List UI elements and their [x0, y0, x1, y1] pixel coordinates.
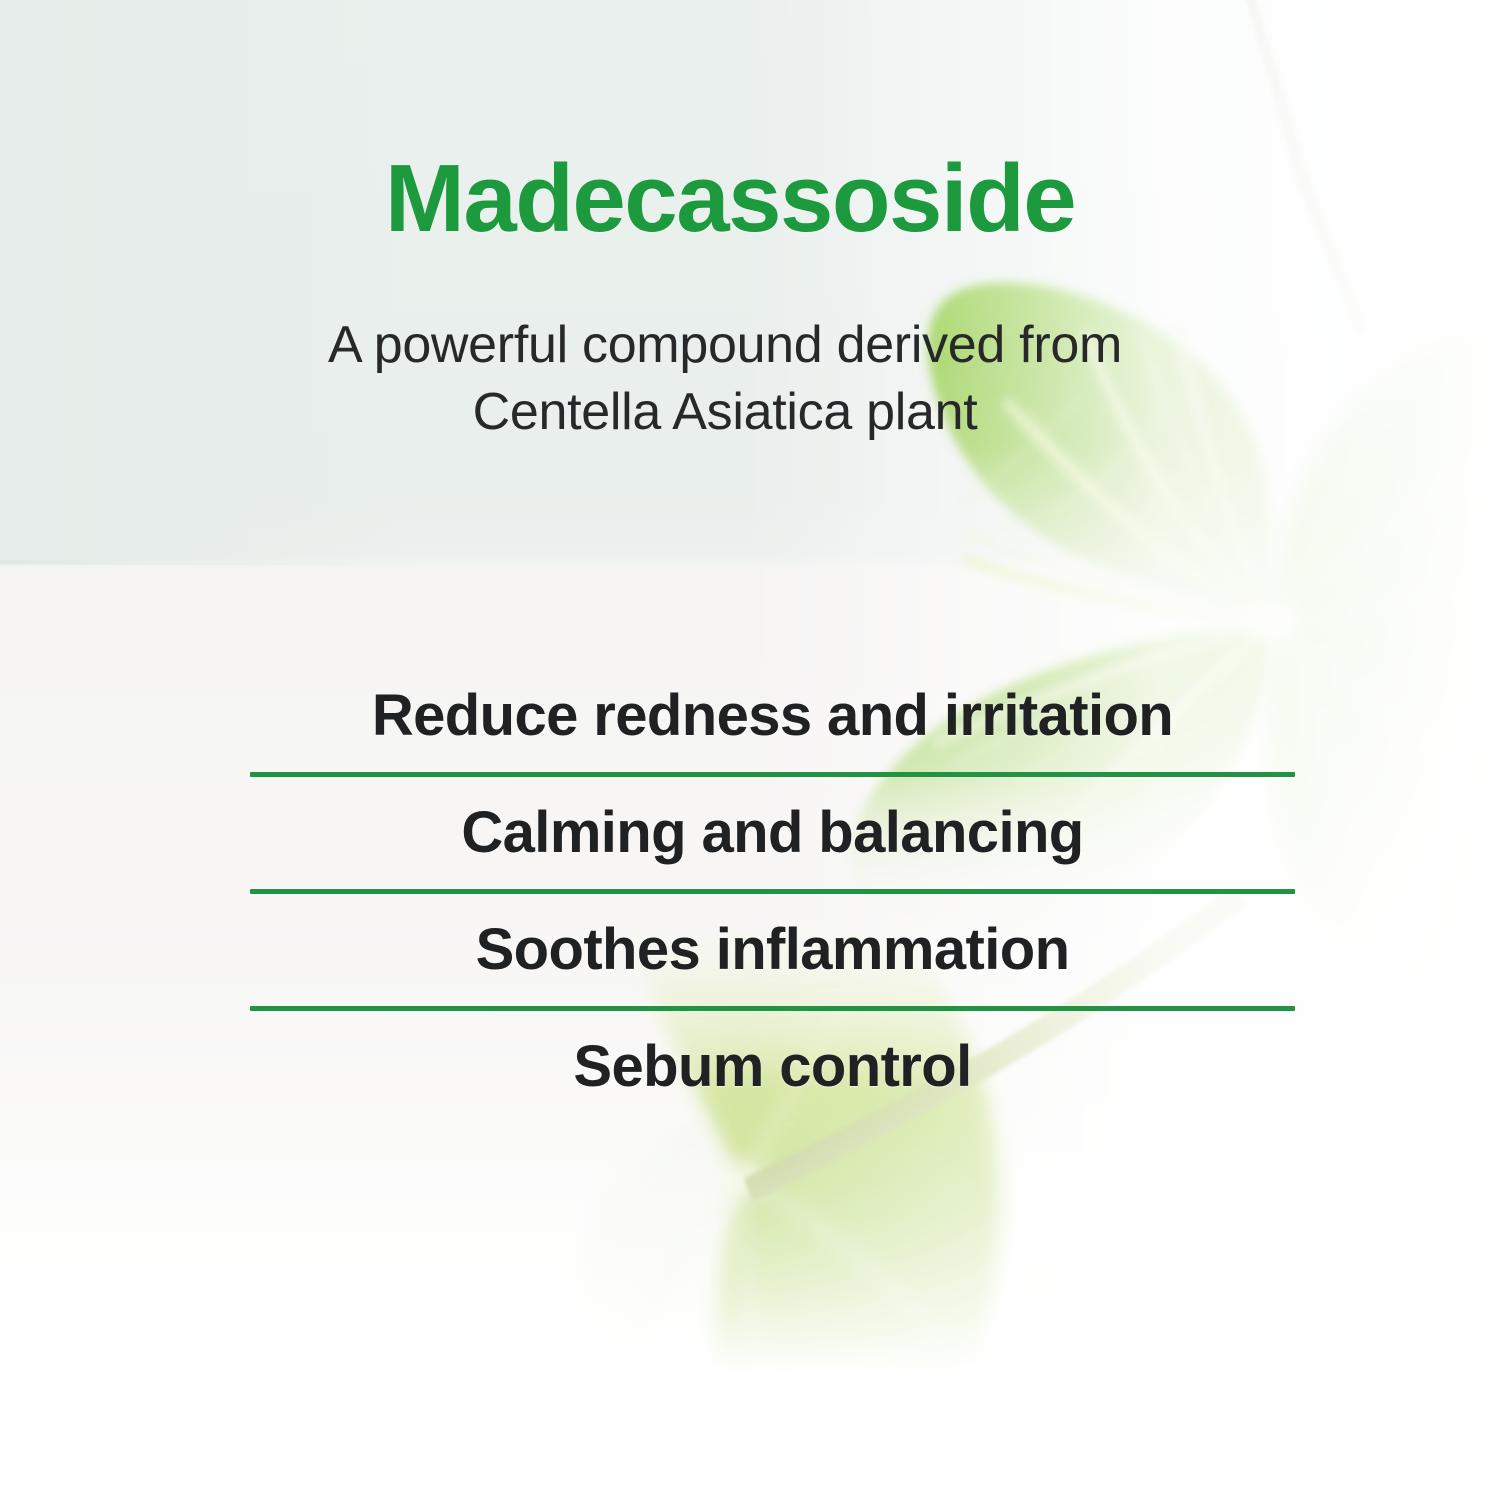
subtitle-line-1: A powerful compound derived from: [0, 312, 1450, 379]
benefit-label: Reduce redness and irritation: [372, 687, 1173, 745]
page-subtitle: A powerful compound derived from Centell…: [0, 312, 1450, 445]
benefit-label: Calming and balancing: [461, 804, 1083, 862]
ingredient-infographic: Madecassoside A powerful compound derive…: [0, 0, 1500, 1500]
benefits-list: Reduce redness and irritation Calming an…: [250, 660, 1295, 1123]
list-item: Calming and balancing: [250, 777, 1295, 889]
subtitle-line-2: Centella Asiatica plant: [0, 379, 1450, 446]
benefit-label: Sebum control: [573, 1038, 971, 1096]
benefit-label: Soothes inflammation: [476, 921, 1070, 979]
content-layer: Madecassoside A powerful compound derive…: [0, 0, 1500, 1500]
list-item: Sebum control: [250, 1011, 1295, 1123]
page-title: Madecassoside: [0, 148, 1460, 250]
list-item: Soothes inflammation: [250, 894, 1295, 1006]
list-item: Reduce redness and irritation: [250, 660, 1295, 772]
